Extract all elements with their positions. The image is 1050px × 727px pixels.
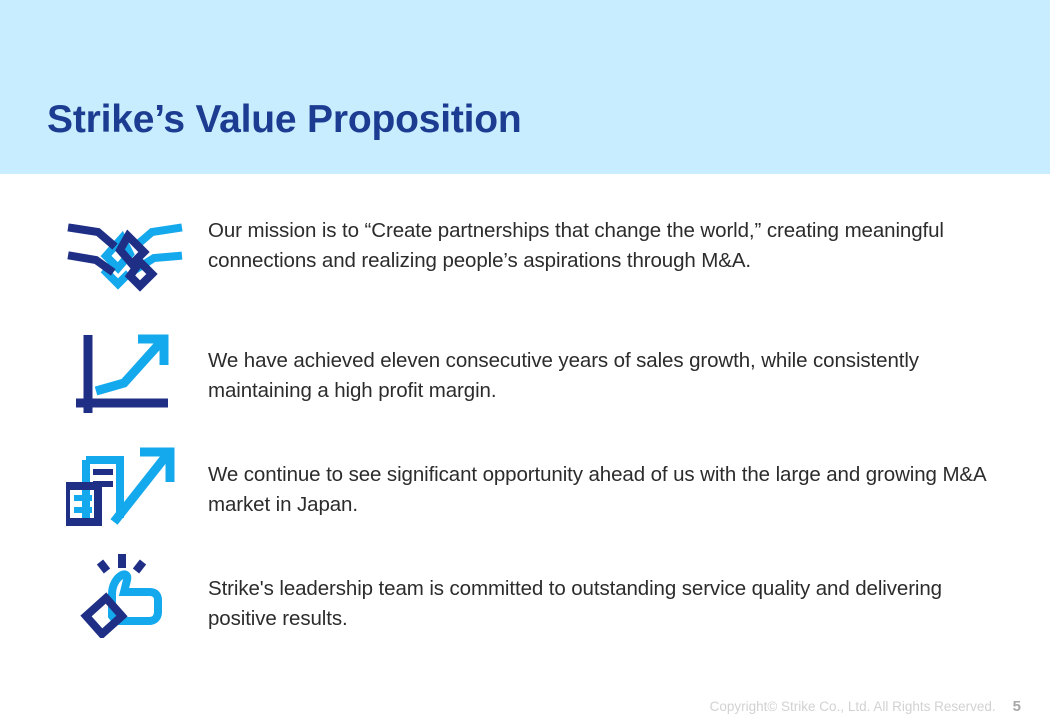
bullet-text: We have achieved eleven consecutive year… — [208, 346, 1008, 405]
slide: Strike’s Value Proposition — [0, 0, 1050, 727]
growth-line-chart-icon — [66, 329, 184, 425]
bullet-text: We continue to see significant opportuni… — [208, 460, 1008, 519]
buildings-growth-arrow-icon — [66, 442, 184, 538]
bullet-text: Strike's leadership team is committed to… — [208, 574, 1008, 633]
page-number: 5 — [1013, 698, 1021, 715]
footer: Copyright© Strike Co., Ltd. All Rights R… — [710, 698, 1021, 715]
handshake-icon — [66, 206, 184, 302]
copyright-text: Copyright© Strike Co., Ltd. All Rights R… — [710, 699, 996, 714]
thumbs-up-icon — [66, 542, 184, 638]
header-band — [0, 0, 1050, 174]
bullet-text: Our mission is to “Create partnerships t… — [208, 216, 1008, 275]
page-title: Strike’s Value Proposition — [47, 100, 522, 139]
